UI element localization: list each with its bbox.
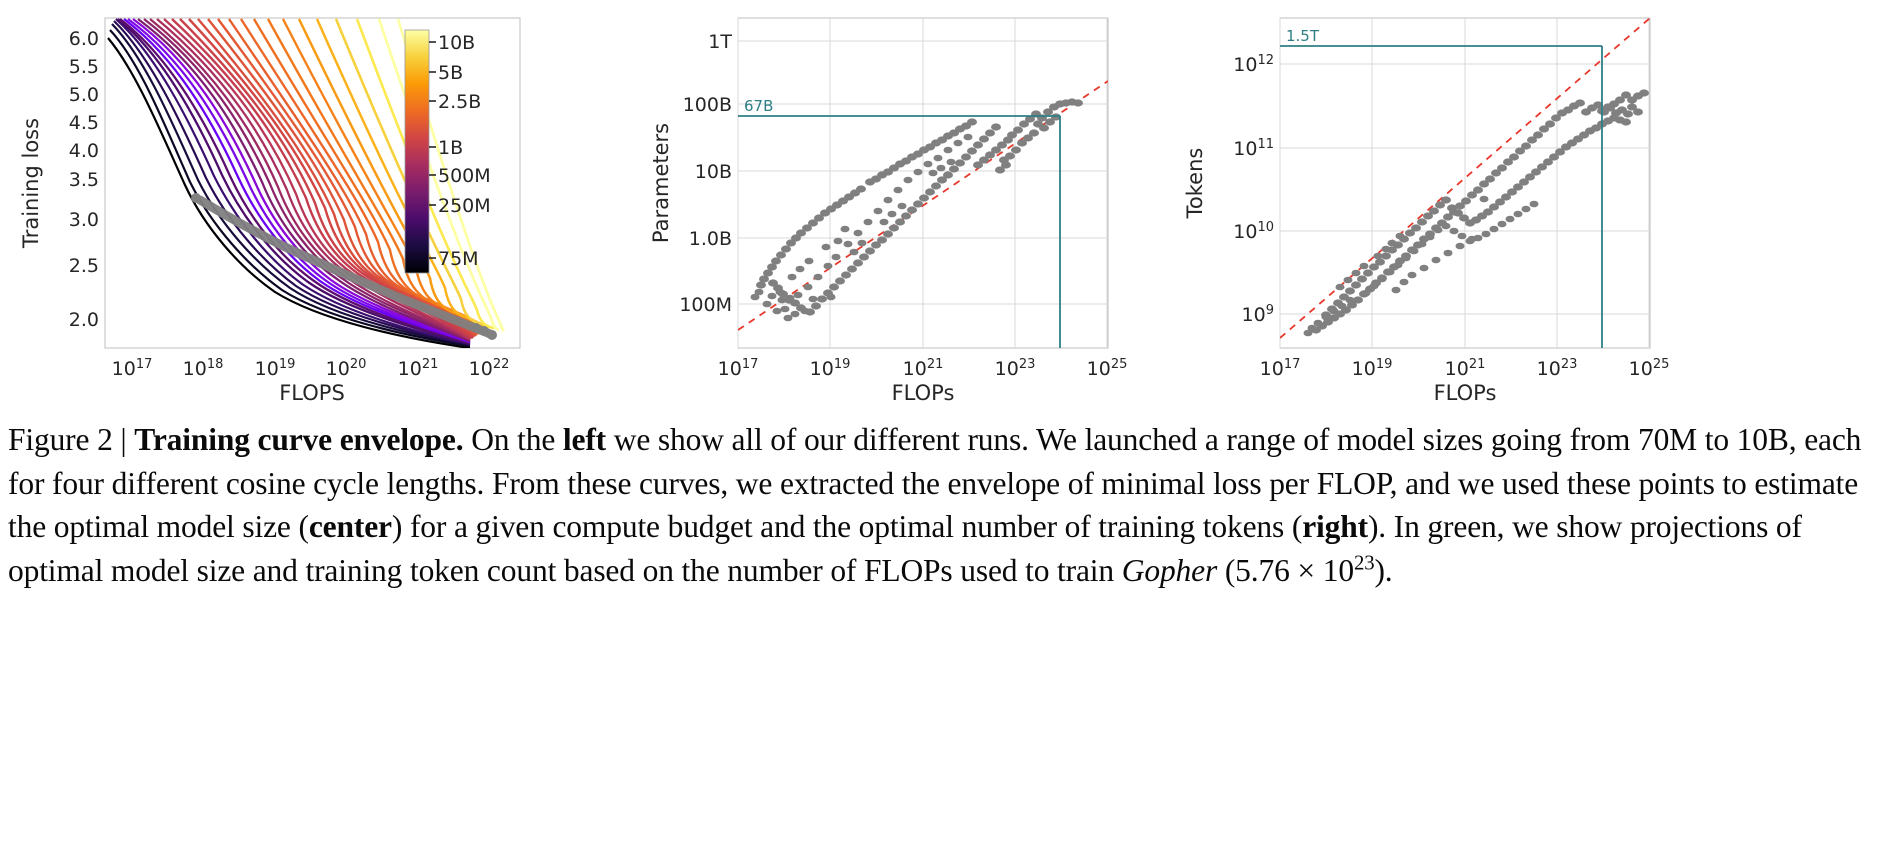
svg-text:1B: 1B: [438, 137, 463, 159]
svg-text:5B: 5B: [438, 62, 463, 84]
model-size-colorbar: [405, 30, 429, 273]
svg-text:1018: 1018: [183, 357, 224, 380]
center-x-ticks: 1017 1019 1021 1023 1025: [718, 357, 1128, 380]
svg-text:250M: 250M: [438, 195, 491, 217]
caption-text-1: On the: [471, 422, 563, 457]
svg-text:1017: 1017: [1260, 357, 1301, 380]
svg-text:3.5: 3.5: [69, 169, 99, 191]
svg-text:1019: 1019: [810, 357, 851, 380]
svg-text:1025: 1025: [1629, 357, 1670, 380]
caption-text-5: (5.76 × 10: [1217, 553, 1354, 588]
right-xlabel: FLOPs: [1434, 381, 1497, 405]
svg-text:500M: 500M: [438, 165, 491, 187]
svg-text:1010: 1010: [1233, 220, 1274, 243]
center-xlabel: FLOPs: [892, 381, 955, 405]
svg-text:1012: 1012: [1233, 53, 1274, 76]
svg-text:1023: 1023: [995, 357, 1036, 380]
svg-text:1023: 1023: [1537, 357, 1578, 380]
center-y-ticks: 1T 100B 10B 1.0B 100M: [679, 31, 732, 316]
right-axes: 1.5T 1012 1011 1010 109 Tokens 1017 1019…: [1160, 0, 1904, 420]
svg-text:1017: 1017: [718, 357, 759, 380]
left-y-ticks: 6.0 5.5 5.0 4.5 4.0 3.5 3.0 2.5 2.0: [69, 28, 99, 331]
svg-text:2.5: 2.5: [69, 255, 99, 277]
caption-separator: |: [120, 422, 126, 457]
caption-bold-right: right: [1302, 509, 1368, 544]
svg-text:2.5B: 2.5B: [438, 91, 481, 113]
caption-label: Figure 2: [8, 422, 113, 457]
right-x-ticks: 1017 1019 1021 1023 1025: [1260, 357, 1670, 380]
svg-text:10B: 10B: [438, 32, 475, 54]
caption-text-3: ) for a given compute budget and the opt…: [392, 509, 1302, 544]
right-projection-label: 1.5T: [1286, 27, 1320, 45]
figure-panels: 6.0 5.5 5.0 4.5 4.0 3.5 3.0 2.5 2.0 Trai…: [0, 0, 1904, 420]
svg-text:4.0: 4.0: [69, 140, 99, 162]
panel-optimal-tokens: 1.5T 1012 1011 1010 109 Tokens 1017 1019…: [1160, 0, 1904, 420]
svg-text:3.0: 3.0: [69, 209, 99, 231]
caption-bold-center: center: [309, 509, 392, 544]
caption-text-6: ).: [1374, 553, 1392, 588]
svg-text:1020: 1020: [326, 357, 367, 380]
caption-exponent: 23: [1354, 551, 1374, 574]
svg-text:1021: 1021: [1445, 357, 1486, 380]
center-projection-label: 67B: [744, 97, 773, 115]
svg-text:6.0: 6.0: [69, 28, 99, 50]
svg-text:109: 109: [1242, 303, 1274, 326]
right-ylabel: Tokens: [1183, 148, 1207, 220]
svg-text:100B: 100B: [683, 94, 732, 116]
svg-text:1021: 1021: [903, 357, 944, 380]
svg-text:5.0: 5.0: [69, 84, 99, 106]
svg-text:1021: 1021: [398, 357, 439, 380]
svg-text:100M: 100M: [679, 294, 732, 316]
left-axes: 6.0 5.5 5.0 4.5 4.0 3.5 3.0 2.5 2.0 Trai…: [0, 0, 640, 420]
svg-text:2.0: 2.0: [69, 309, 99, 331]
figure-page: 6.0 5.5 5.0 4.5 4.0 3.5 3.0 2.5 2.0 Trai…: [0, 0, 1904, 850]
svg-text:1022: 1022: [469, 357, 510, 380]
figure-caption: Figure 2 | Training curve envelope. On t…: [8, 418, 1898, 593]
svg-text:5.5: 5.5: [69, 56, 99, 78]
caption-bold-left: left: [563, 422, 606, 457]
center-ylabel: Parameters: [649, 123, 673, 243]
svg-text:1011: 1011: [1233, 137, 1274, 160]
svg-text:4.5: 4.5: [69, 112, 99, 134]
svg-text:75M: 75M: [438, 248, 479, 270]
right-y-ticks: 1012 1011 1010 109: [1233, 53, 1274, 326]
caption-title: Training curve envelope.: [134, 422, 463, 457]
svg-text:1.0B: 1.0B: [689, 228, 732, 250]
svg-text:1019: 1019: [255, 357, 296, 380]
svg-text:10B: 10B: [695, 161, 732, 183]
left-xlabel: FLOPS: [279, 381, 345, 405]
center-axes: 67B 1T 100B 10B 1.0B 100M Parameters 101…: [640, 0, 1160, 420]
left-x-ticks: 1017 1018 1019 1020 1021 1022: [112, 357, 510, 380]
panel-training-curve-envelope: 6.0 5.5 5.0 4.5 4.0 3.5 3.0 2.5 2.0 Trai…: [0, 0, 640, 420]
panel-optimal-parameters: 67B 1T 100B 10B 1.0B 100M Parameters 101…: [640, 0, 1160, 420]
left-ylabel: Training loss: [19, 118, 43, 249]
svg-text:1017: 1017: [112, 357, 153, 380]
svg-text:1025: 1025: [1087, 357, 1128, 380]
caption-italic-gopher: Gopher: [1122, 553, 1217, 588]
svg-text:1T: 1T: [708, 31, 732, 53]
svg-text:1019: 1019: [1352, 357, 1393, 380]
